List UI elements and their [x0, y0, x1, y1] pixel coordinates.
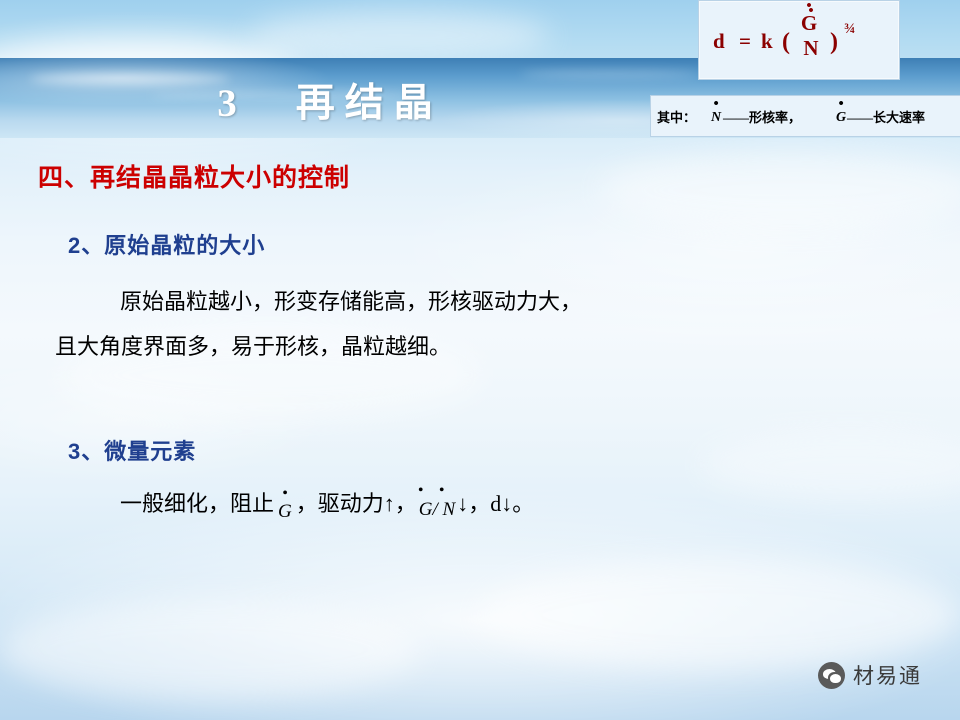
- inline-symbol-g-text: G: [278, 501, 292, 522]
- formula-legend: 其中： • N ——形核率， • G ——长大速率: [650, 95, 960, 137]
- cloud-decoration: [0, 600, 420, 700]
- wechat-label: 材易通: [853, 660, 922, 690]
- formula-equals: =: [739, 29, 751, 54]
- formula-paren-right: ): [830, 29, 838, 56]
- dot-accent-icon: •: [439, 487, 445, 495]
- legend-symbol-n: • N: [711, 110, 721, 126]
- paragraph-3-prefix: 一般细化，阻止: [120, 486, 274, 518]
- paragraph-3-suffix: ↓，d↓。: [457, 486, 534, 518]
- formula-paren-left: (: [782, 29, 790, 56]
- dot-accent-icon: •: [418, 487, 424, 495]
- formula-expression: d = k ( • G • N ) ¾: [699, 1, 899, 79]
- dot-accent-icon: •: [713, 100, 718, 108]
- paragraph-3-middle: ，驱动力↑，: [296, 486, 417, 518]
- cloud-decoration: [250, 10, 550, 60]
- formula-denominator-wrap: • N: [803, 36, 818, 60]
- wechat-icon: [818, 662, 845, 689]
- legend-prefix: 其中：: [657, 107, 696, 126]
- formula-exponent: ¾: [844, 21, 855, 38]
- formula-fraction: • G • N: [794, 11, 828, 61]
- formula-denominator: N: [803, 36, 818, 60]
- paragraph-line-1: 原始晶粒越小，形变存储能高，形核驱动力大，: [120, 284, 582, 316]
- inline-symbol-g-over-n: • • G/ N: [417, 499, 457, 521]
- inline-symbol-gn-text: G/ N: [419, 499, 455, 520]
- formula-d: d: [713, 29, 725, 54]
- section-heading: 四、再结晶晶粒大小的控制: [38, 158, 350, 194]
- slide-background: 3 再结晶 d = k ( • G • N ) ¾ 其中：: [0, 0, 960, 720]
- paragraph-line-2: 且大角度界面多，易于形核，晶粒越细。: [55, 329, 451, 361]
- legend-symbol-n-text: N: [711, 110, 721, 125]
- subsection-heading-2: 2、原始晶粒的大小: [68, 228, 265, 260]
- wechat-watermark: 材易通: [818, 660, 922, 690]
- legend-symbol-g: • G: [836, 110, 846, 126]
- legend-symbol-g-text: G: [836, 110, 846, 125]
- formula-box: d = k ( • G • N ) ¾: [698, 0, 900, 80]
- subsection-heading-3: 3、微量元素: [68, 434, 196, 466]
- paragraph-line-3: 一般细化，阻止 • G ，驱动力↑， • • G/ N ↓，d↓。: [120, 486, 534, 518]
- slide-title: 3 再结晶: [0, 72, 660, 128]
- dot-accent-icon: •: [838, 100, 843, 108]
- cloud-decoration: [600, 150, 960, 230]
- cloud-decoration: [480, 560, 960, 670]
- formula-k: k: [761, 29, 773, 54]
- cloud-decoration: [700, 430, 960, 500]
- inline-symbol-g-dot: • G: [274, 501, 296, 523]
- legend-end: ——长大速率: [847, 107, 925, 126]
- dot-accent-icon: •: [282, 490, 288, 498]
- legend-middle: ——形核率，: [723, 107, 801, 126]
- dot-accent-icon: •: [808, 7, 813, 15]
